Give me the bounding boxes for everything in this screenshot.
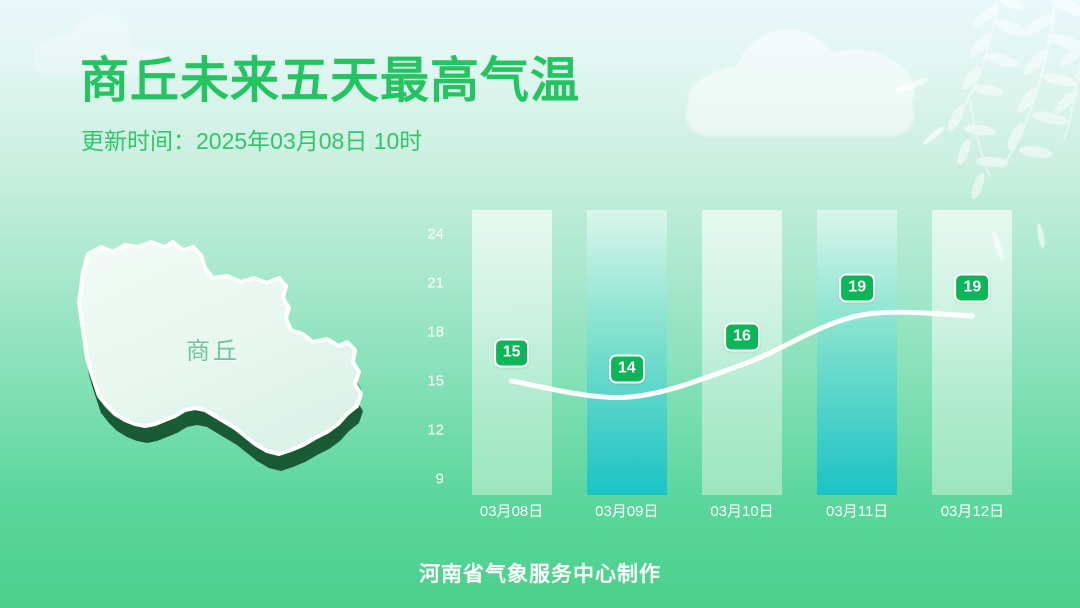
poster-canvas: 商丘未来五天最高气温 更新时间：2025年03月08日 10时 商丘 24211… — [0, 0, 1080, 608]
update-time-text: 更新时间：2025年03月08日 10时 — [81, 130, 422, 153]
x-axis-tick: 03月10日 — [687, 500, 797, 521]
temperature-value-badge: 19 — [954, 273, 990, 302]
x-axis-tick: 03月08日 — [457, 500, 567, 521]
y-axis-labels: 24211815129 — [410, 210, 444, 495]
y-axis-tick: 9 — [436, 470, 444, 487]
temperature-value-badge: 15 — [494, 339, 530, 368]
temperature-chart: 24211815129 1514161919 03月08日03月09日03月10… — [410, 210, 1030, 510]
chart-plot-area: 1514161919 — [454, 210, 1030, 495]
y-axis-tick: 21 — [427, 275, 444, 292]
y-axis-tick: 15 — [427, 373, 444, 390]
page-title: 商丘未来五天最高气温 — [80, 57, 580, 106]
x-axis-tick: 03月12日 — [917, 500, 1027, 521]
shangqiu-map — [55, 238, 405, 498]
temperature-line — [454, 210, 1030, 495]
temperature-value-badge: 14 — [609, 355, 645, 384]
y-axis-tick: 12 — [427, 421, 444, 438]
map-region-label: 商丘 — [186, 331, 240, 366]
willow-branch-icon — [850, 0, 1080, 230]
x-axis-labels: 03月08日03月09日03月10日03月11日03月12日 — [454, 500, 1030, 526]
temperature-value-badge: 16 — [724, 322, 760, 351]
y-axis-tick: 24 — [427, 226, 444, 243]
footer-credit: 河南省气象服务中心制作 — [0, 558, 1080, 588]
temperature-value-badge: 19 — [839, 273, 875, 302]
x-axis-tick: 03月11日 — [802, 500, 912, 521]
x-axis-tick: 03月09日 — [572, 500, 682, 521]
y-axis-tick: 18 — [427, 324, 444, 341]
